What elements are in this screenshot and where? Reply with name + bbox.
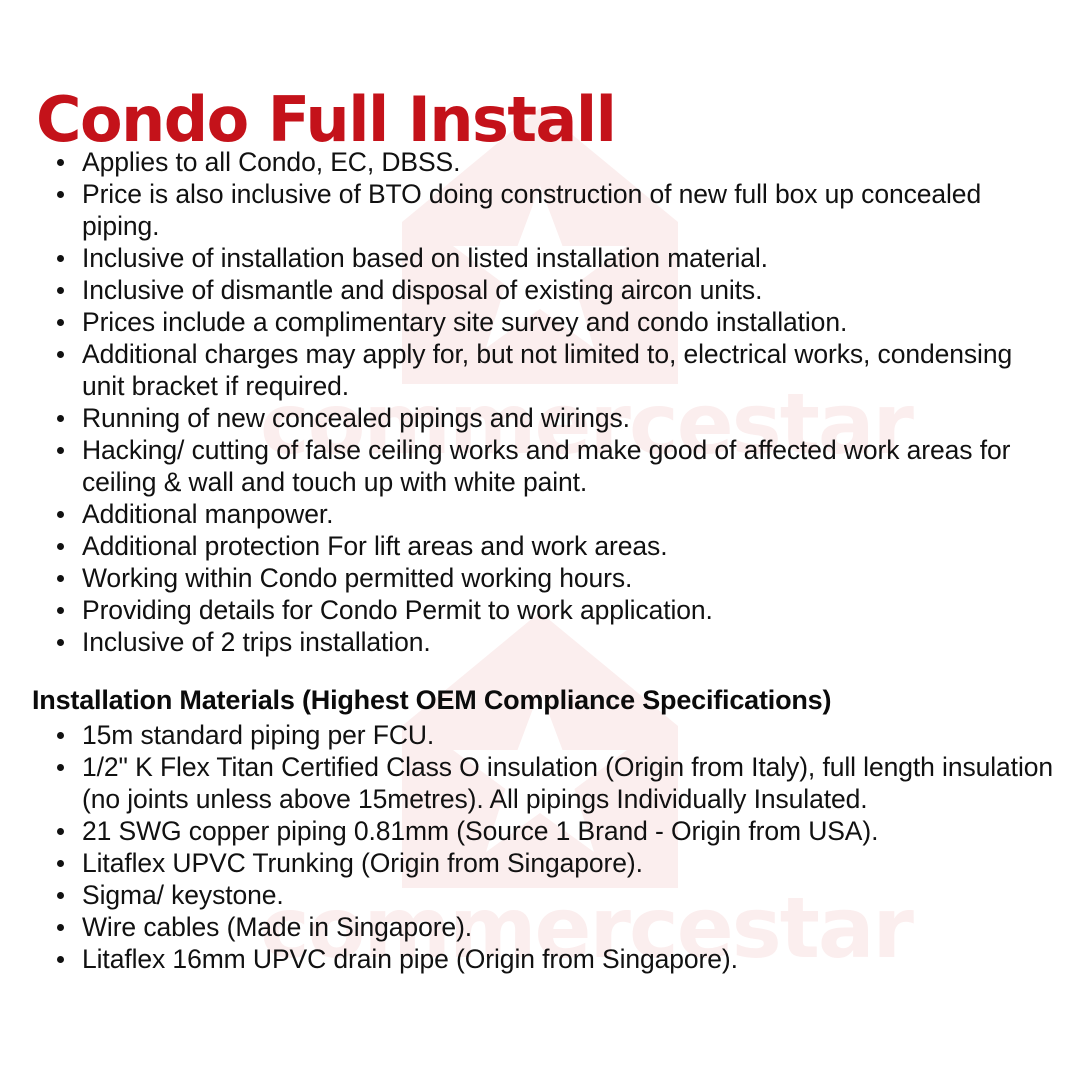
list-item: Litaflex 16mm UPVC drain pipe (Origin fr… (30, 943, 1056, 975)
list-item-text: Litaflex UPVC Trunking (Origin from Sing… (82, 848, 643, 878)
bullet-dot-icon (57, 319, 64, 326)
list-item: Working within Condo permitted working h… (30, 562, 1056, 594)
list-item: 15m standard piping per FCU. (30, 719, 1056, 751)
list-item-text: Applies to all Condo, EC, DBSS. (82, 147, 460, 177)
list-item-text: 21 SWG copper piping 0.81mm (Source 1 Br… (82, 816, 878, 846)
bullet-dot-icon (57, 447, 64, 454)
list-item-text: Litaflex 16mm UPVC drain pipe (Origin fr… (82, 944, 738, 974)
bullet-dot-icon (57, 511, 64, 518)
list-item-text: Inclusive of installation based on liste… (82, 243, 768, 273)
list-item-text: Price is also inclusive of BTO doing con… (82, 179, 981, 241)
list-item-text: Prices include a complimentary site surv… (82, 307, 847, 337)
bullet-dot-icon (57, 924, 64, 931)
body-content: Applies to all Condo, EC, DBSS.Price is … (0, 146, 1080, 975)
list-item: Sigma/ keystone. (30, 879, 1056, 911)
bullet-dot-icon (57, 607, 64, 614)
list-item-text: Sigma/ keystone. (82, 880, 284, 910)
list-item-text: Running of new concealed pipings and wir… (82, 403, 630, 433)
list-item: Applies to all Condo, EC, DBSS. (30, 146, 1056, 178)
list-item-text: Inclusive of dismantle and disposal of e… (82, 275, 762, 305)
list-item: Running of new concealed pipings and wir… (30, 402, 1056, 434)
list-item-text: Wire cables (Made in Singapore). (82, 912, 472, 942)
scope-bullet-list: Applies to all Condo, EC, DBSS.Price is … (30, 146, 1056, 658)
bullet-dot-icon (57, 764, 64, 771)
bullet-dot-icon (57, 351, 64, 358)
list-item-text: Additional manpower. (82, 499, 333, 529)
list-item: Additional protection For lift areas and… (30, 530, 1056, 562)
bullet-dot-icon (57, 255, 64, 262)
list-item: Inclusive of dismantle and disposal of e… (30, 274, 1056, 306)
list-item-text: Hacking/ cutting of false ceiling works … (82, 435, 1010, 497)
list-item: Litaflex UPVC Trunking (Origin from Sing… (30, 847, 1056, 879)
materials-section-heading: Installation Materials (Highest OEM Comp… (32, 683, 1056, 717)
list-item-text: Providing details for Condo Permit to wo… (82, 595, 713, 625)
bullet-dot-icon (57, 828, 64, 835)
bullet-dot-icon (57, 575, 64, 582)
list-item: Hacking/ cutting of false ceiling works … (30, 434, 1056, 498)
list-item: Prices include a complimentary site surv… (30, 306, 1056, 338)
list-item-text: Working within Condo permitted working h… (82, 563, 632, 593)
bullet-dot-icon (57, 639, 64, 646)
list-item: 21 SWG copper piping 0.81mm (Source 1 Br… (30, 815, 1056, 847)
list-item: Inclusive of 2 trips installation. (30, 626, 1056, 658)
list-item: 1/2" K Flex Titan Certified Class O insu… (30, 751, 1056, 815)
list-item-text: 1/2" K Flex Titan Certified Class O insu… (82, 752, 1053, 814)
bullet-dot-icon (57, 415, 64, 422)
bullet-dot-icon (57, 287, 64, 294)
list-item: Additional manpower. (30, 498, 1056, 530)
list-item: Inclusive of installation based on liste… (30, 242, 1056, 274)
list-item-text: Inclusive of 2 trips installation. (82, 627, 431, 657)
bullet-dot-icon (57, 191, 64, 198)
list-item-text: 15m standard piping per FCU. (82, 720, 434, 750)
list-item: Providing details for Condo Permit to wo… (30, 594, 1056, 626)
list-item-text: Additional charges may apply for, but no… (82, 339, 1012, 401)
bullet-dot-icon (57, 892, 64, 899)
list-item: Additional charges may apply for, but no… (30, 338, 1056, 402)
bullet-dot-icon (57, 543, 64, 550)
page-title: Condo Full Install (36, 86, 615, 154)
list-item: Wire cables (Made in Singapore). (30, 911, 1056, 943)
bullet-dot-icon (57, 956, 64, 963)
document-page: commercestar commercestar Condo Full Ins… (0, 0, 1080, 1080)
bullet-dot-icon (57, 860, 64, 867)
list-item-text: Additional protection For lift areas and… (82, 531, 667, 561)
materials-bullet-list: 15m standard piping per FCU.1/2" K Flex … (30, 719, 1056, 975)
bullet-dot-icon (57, 732, 64, 739)
list-item: Price is also inclusive of BTO doing con… (30, 178, 1056, 242)
bullet-dot-icon (57, 159, 64, 166)
